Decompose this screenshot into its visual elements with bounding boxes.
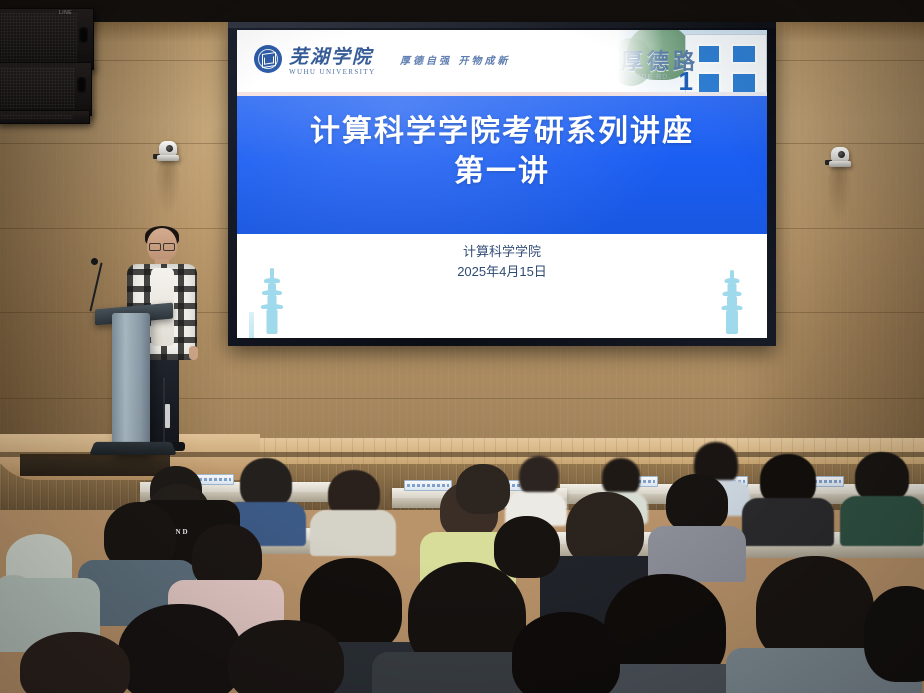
camera-body <box>159 141 177 156</box>
audience-head-front <box>118 604 242 693</box>
eyeglasses-icon <box>149 243 175 249</box>
presenter-hand <box>189 346 198 360</box>
window-shape <box>697 72 721 94</box>
slide-footer-text: 计算科学学院 2025年4月15日 <box>237 242 767 282</box>
audience-head <box>855 452 909 502</box>
wall-smudge <box>155 158 181 216</box>
slide-header: 1 厚德路 HOUDE RD. 芜湖学院 WUHU UNIVERSITY 厚德自… <box>237 30 767 92</box>
audience-head <box>494 516 560 578</box>
camera-lens <box>838 151 845 158</box>
skyline-building <box>617 323 695 338</box>
camera-lens <box>166 145 173 152</box>
slide-title-line2: 第一讲 <box>237 152 767 192</box>
audience-body <box>840 496 924 546</box>
ceiling-speaker-array: LINE <box>0 8 94 70</box>
slide-footer: 计算科学学院 2025年4月15日 <box>237 234 767 338</box>
speaker-port <box>77 77 86 93</box>
presentation-slide: 1 厚德路 HOUDE RD. 芜湖学院 WUHU UNIVERSITY 厚德自… <box>237 30 767 338</box>
speaker-port <box>79 27 88 43</box>
footer-org: 计算科学学院 <box>237 242 767 262</box>
podium-column <box>112 313 150 455</box>
audience-head-front <box>228 620 344 693</box>
audience-area: LEGEND <box>0 436 924 693</box>
audience-head <box>566 492 644 566</box>
audience-head-front <box>512 612 620 693</box>
slide-title: 计算科学学院考研系列讲座 第一讲 <box>237 112 767 191</box>
campus-photo: 1 厚德路 HOUDE RD. <box>617 30 767 96</box>
microphone-head-icon <box>91 258 98 265</box>
audience-head <box>519 456 559 496</box>
university-motto: 厚德自强 开物成新 <box>400 52 510 67</box>
desk-nameplate <box>404 480 452 491</box>
wall-smudge <box>826 164 852 222</box>
university-name-en: WUHU UNIVERSITY <box>289 68 376 76</box>
audience-head-front <box>20 632 130 693</box>
tree-shape <box>617 38 653 86</box>
audience-head <box>456 464 510 514</box>
ceiling-speaker-array <box>0 110 90 124</box>
audience-head <box>666 474 728 532</box>
slide-title-line1: 计算科学学院考研系列讲座 <box>237 112 767 152</box>
audience-head <box>602 458 640 496</box>
speaker-grille <box>1 67 75 111</box>
audience-head <box>240 458 292 508</box>
audience-body <box>742 498 834 546</box>
wall-camera-right-icon <box>829 147 851 169</box>
led-screen-frame: 1 厚德路 HOUDE RD. 芜湖学院 WUHU UNIVERSITY 厚德自… <box>228 22 776 346</box>
seal-cube-glyph <box>262 52 276 68</box>
lecture-hall-photo: LINE <box>0 0 924 693</box>
trouser-logo <box>165 404 170 428</box>
wall-camera-left-icon <box>157 141 179 163</box>
window-shape <box>731 72 757 94</box>
camera-mount <box>829 161 851 167</box>
footer-date: 2025年4月15日 <box>237 262 767 282</box>
slide-title-band: 计算科学学院考研系列讲座 第一讲 <box>237 96 767 234</box>
window-shape <box>697 44 721 64</box>
camera-mount <box>157 155 179 161</box>
road-sign-text: 厚德路 <box>621 44 699 76</box>
camera-body <box>831 147 849 162</box>
skyline-building <box>387 308 535 338</box>
university-name-cn: 芜湖学院 <box>289 42 376 69</box>
window-shape <box>731 44 757 64</box>
skyline-mast <box>249 312 254 338</box>
ceiling-speaker-array <box>0 62 92 116</box>
skyline-building <box>533 310 621 338</box>
university-seal-icon <box>255 46 281 72</box>
audience-body <box>310 510 396 556</box>
skyline-building <box>297 314 383 338</box>
university-logo: 芜湖学院 WUHU UNIVERSITY <box>255 42 376 76</box>
road-sign-pinyin: HOUDE RD. <box>623 74 671 81</box>
speaker-grille <box>1 13 77 65</box>
speaker-grille <box>1 115 73 119</box>
speaker-brand-label: LINE <box>59 10 72 16</box>
ceiling-band <box>0 0 924 22</box>
